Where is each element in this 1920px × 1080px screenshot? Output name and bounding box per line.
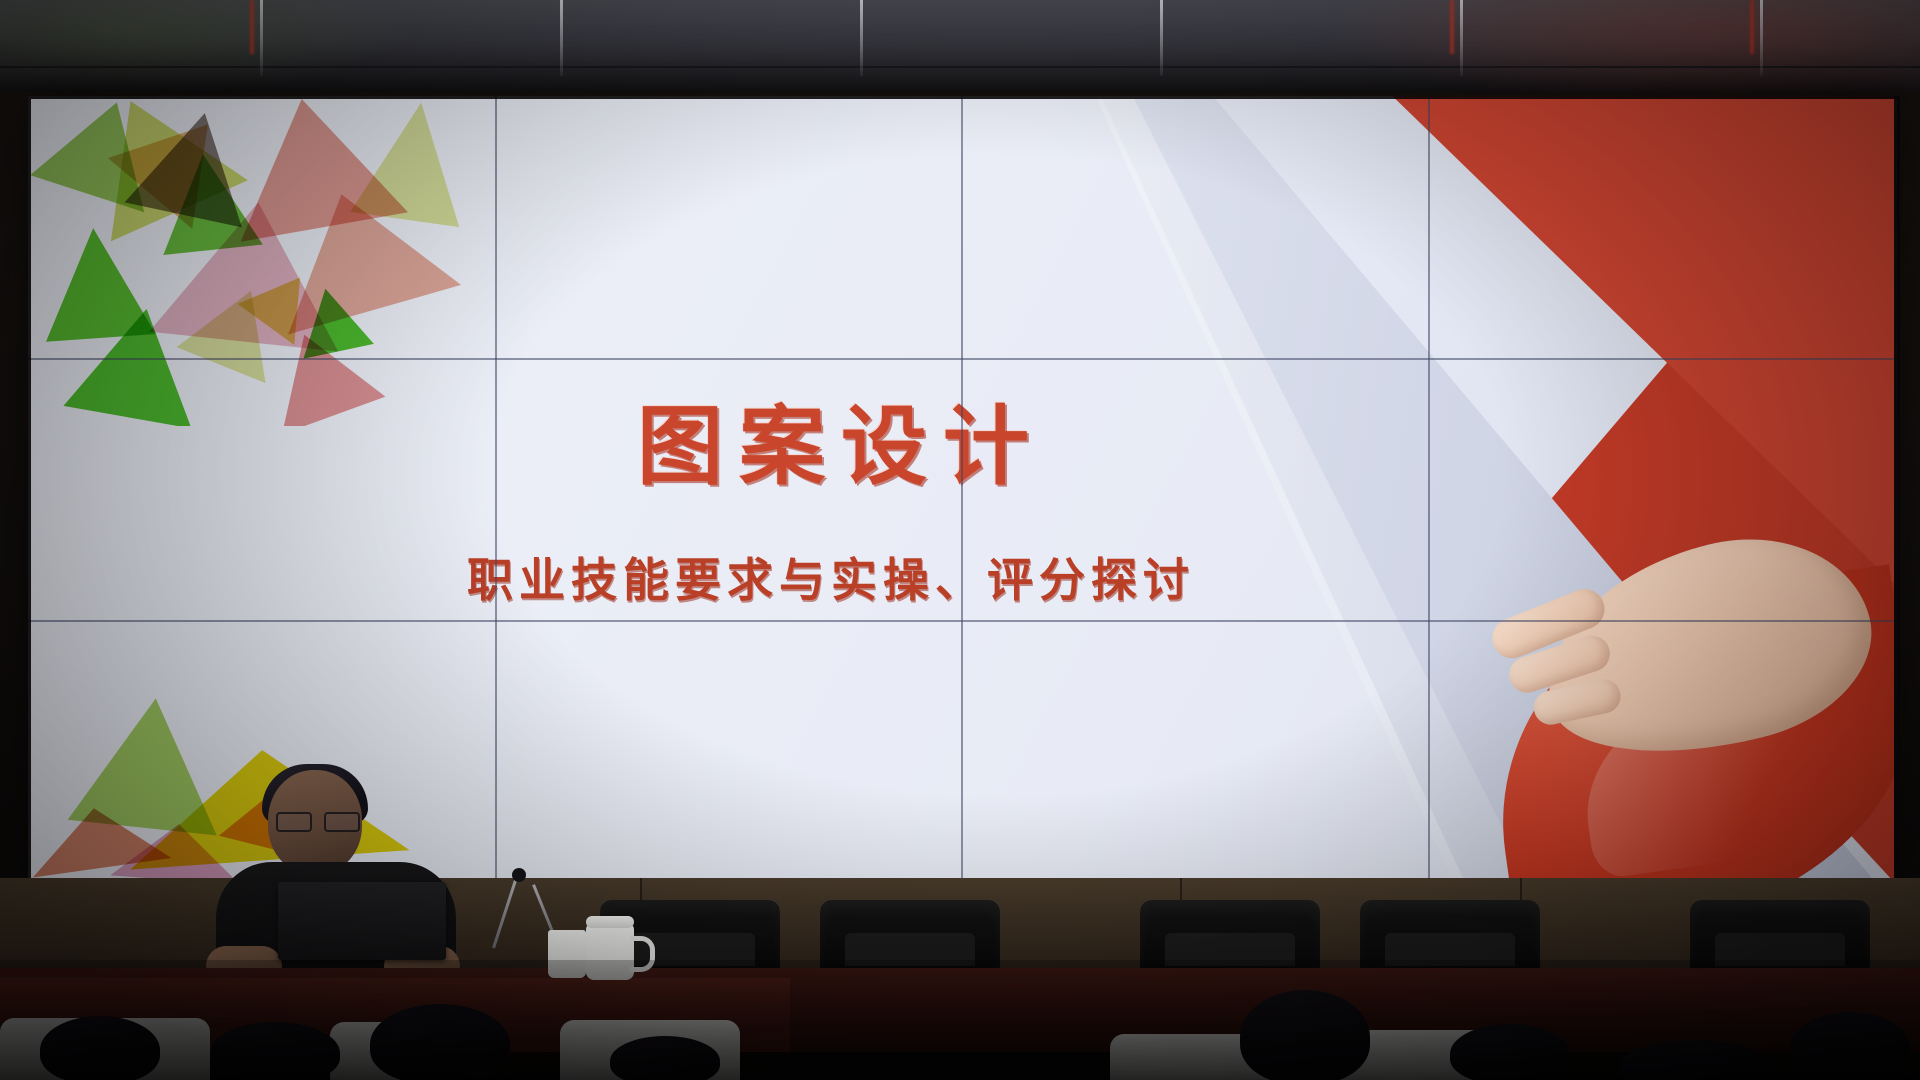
ceiling-seam bbox=[260, 0, 263, 76]
slide-subtitle: 职业技能要求与实操、评分探讨 bbox=[28, 544, 1764, 610]
audience-head bbox=[1240, 990, 1370, 1080]
lecture-hall-scene: 图案设计 职业技能要求与实操、评分探讨 bbox=[0, 0, 1920, 1080]
glasses-icon bbox=[276, 812, 356, 828]
ceiling-light-strip bbox=[1750, 0, 1754, 54]
ceiling-seam bbox=[1460, 0, 1463, 76]
ceiling-seam bbox=[560, 0, 563, 76]
audience-head bbox=[370, 1004, 510, 1080]
led-panel-seam-vertical bbox=[1428, 96, 1430, 882]
ceiling-rail bbox=[0, 66, 1920, 68]
audience-head bbox=[610, 1036, 720, 1080]
led-panel-seam-horizontal bbox=[28, 358, 1894, 360]
tea-cup bbox=[586, 924, 634, 980]
led-panel-seam-horizontal bbox=[28, 620, 1894, 622]
ceiling-seam bbox=[1760, 0, 1763, 76]
ceiling-light-wash bbox=[0, 0, 1920, 98]
ceiling-light-strip bbox=[250, 0, 254, 54]
audience-head bbox=[1450, 1024, 1570, 1080]
chair bbox=[1360, 900, 1540, 972]
audience-head bbox=[40, 1016, 160, 1080]
ceiling-light-strip bbox=[1450, 0, 1454, 54]
tea-cup-handle bbox=[630, 936, 655, 972]
microphone-head-1 bbox=[512, 868, 526, 882]
ceiling-seam bbox=[860, 0, 863, 76]
led-panel-seam-vertical bbox=[495, 96, 497, 882]
laptop-icon[interactable] bbox=[278, 882, 446, 960]
led-panel-seam-vertical bbox=[961, 96, 963, 882]
audience-head bbox=[1790, 1012, 1910, 1080]
paper-cup bbox=[548, 930, 586, 978]
chair bbox=[820, 900, 1000, 972]
audience-head bbox=[210, 1022, 340, 1080]
ceiling-seam bbox=[1160, 0, 1163, 76]
tea-cup-lid bbox=[586, 916, 634, 928]
chair bbox=[1140, 900, 1320, 972]
slide-title: 图案设计 bbox=[28, 376, 1774, 501]
chair bbox=[1690, 900, 1870, 972]
